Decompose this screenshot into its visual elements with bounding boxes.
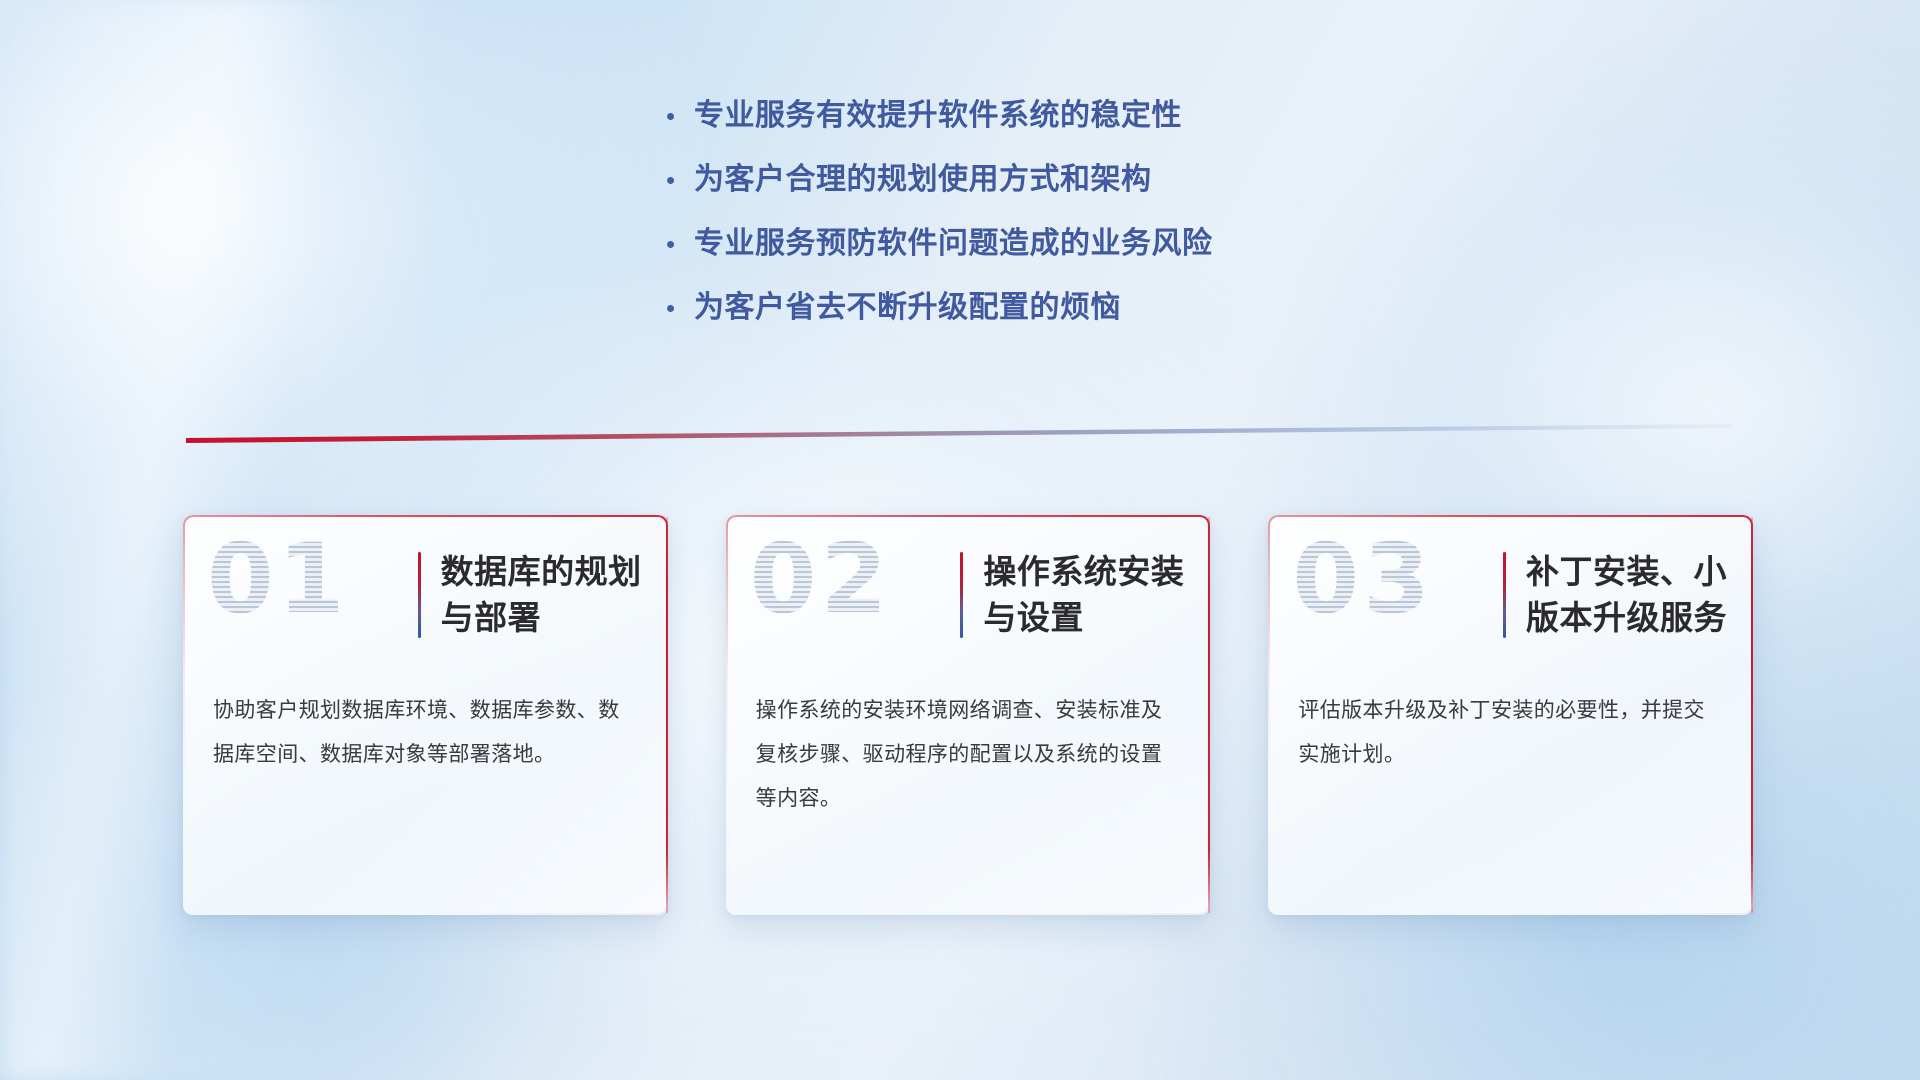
- card-header: 01 01 数据库的规划 与部署: [183, 515, 668, 675]
- card-number-watermark: 03: [1292, 531, 1434, 627]
- card-title-group: 操作系统安装 与设置: [960, 549, 1184, 641]
- service-card-01[interactable]: 01 01 数据库的规划 与部署 协助客户规划数据库环境、数据库参数、数据库空间…: [183, 515, 668, 915]
- card-title-group: 补丁安装、小 版本升级服务: [1503, 549, 1727, 641]
- card-title: 补丁安装、小 版本升级服务: [1526, 549, 1727, 641]
- card-title: 操作系统安装 与设置: [983, 549, 1184, 641]
- card-body: 评估版本升级及补丁安装的必要性，并提交实施计划。: [1268, 675, 1753, 777]
- benefits-bullet-list: • 专业服务有效提升软件系统的稳定性 • 为客户合理的规划使用方式和架构 • 专…: [660, 96, 1420, 352]
- card-body: 操作系统的安装环境网络调查、安装标准及复核步骤、驱动程序的配置以及系统的设置等内…: [726, 675, 1211, 821]
- list-item: • 为客户省去不断升级配置的烦恼: [660, 288, 1420, 352]
- list-item: • 专业服务有效提升软件系统的稳定性: [660, 96, 1420, 160]
- bullet-dot-icon: •: [660, 96, 694, 136]
- card-number-watermark: 01: [207, 531, 349, 627]
- bullet-item-label: 专业服务预防软件问题造成的业务风险: [694, 224, 1213, 264]
- service-card-02[interactable]: 02 02 操作系统安装 与设置 操作系统的安装环境网络调查、安装标准及复核步骤…: [726, 515, 1211, 915]
- card-header: 02 02 操作系统安装 与设置: [726, 515, 1211, 675]
- service-card-03[interactable]: 03 03 补丁安装、小 版本升级服务 评估版本升级及补丁安装的必要性，并提交实…: [1268, 515, 1753, 915]
- title-accent-rule: [960, 552, 963, 638]
- card-header: 03 03 补丁安装、小 版本升级服务: [1268, 515, 1753, 675]
- bullet-dot-icon: •: [660, 224, 694, 264]
- card-number-shadow: 01: [207, 531, 349, 627]
- card-body: 协助客户规划数据库环境、数据库参数、数据库空间、数据库对象等部署落地。: [183, 675, 668, 777]
- card-number-watermark: 02: [750, 531, 892, 627]
- card-description: 协助客户规划数据库环境、数据库参数、数据库空间、数据库对象等部署落地。: [213, 689, 638, 777]
- bullet-dot-icon: •: [660, 160, 694, 200]
- divider-wedge-icon: [186, 424, 1732, 444]
- bullet-item-label: 专业服务有效提升软件系统的稳定性: [694, 96, 1182, 136]
- card-number-shadow: 03: [1292, 531, 1434, 627]
- list-item: • 专业服务预防软件问题造成的业务风险: [660, 224, 1420, 288]
- list-item: • 为客户合理的规划使用方式和架构: [660, 160, 1420, 224]
- bullet-item-label: 为客户合理的规划使用方式和架构: [694, 160, 1152, 200]
- card-number-shadow: 02: [750, 531, 892, 627]
- title-accent-rule: [1503, 552, 1506, 638]
- bullet-dot-icon: •: [660, 288, 694, 328]
- bullet-item-label: 为客户省去不断升级配置的烦恼: [694, 288, 1121, 328]
- service-card-list: 01 01 数据库的规划 与部署 协助客户规划数据库环境、数据库参数、数据库空间…: [183, 515, 1753, 915]
- title-accent-rule: [418, 552, 421, 638]
- card-title: 数据库的规划 与部署: [441, 549, 642, 641]
- card-description: 评估版本升级及补丁安装的必要性，并提交实施计划。: [1298, 689, 1723, 777]
- card-title-group: 数据库的规划 与部署: [418, 549, 642, 641]
- section-divider: [186, 424, 1732, 444]
- card-description: 操作系统的安装环境网络调查、安装标准及复核步骤、驱动程序的配置以及系统的设置等内…: [756, 689, 1181, 821]
